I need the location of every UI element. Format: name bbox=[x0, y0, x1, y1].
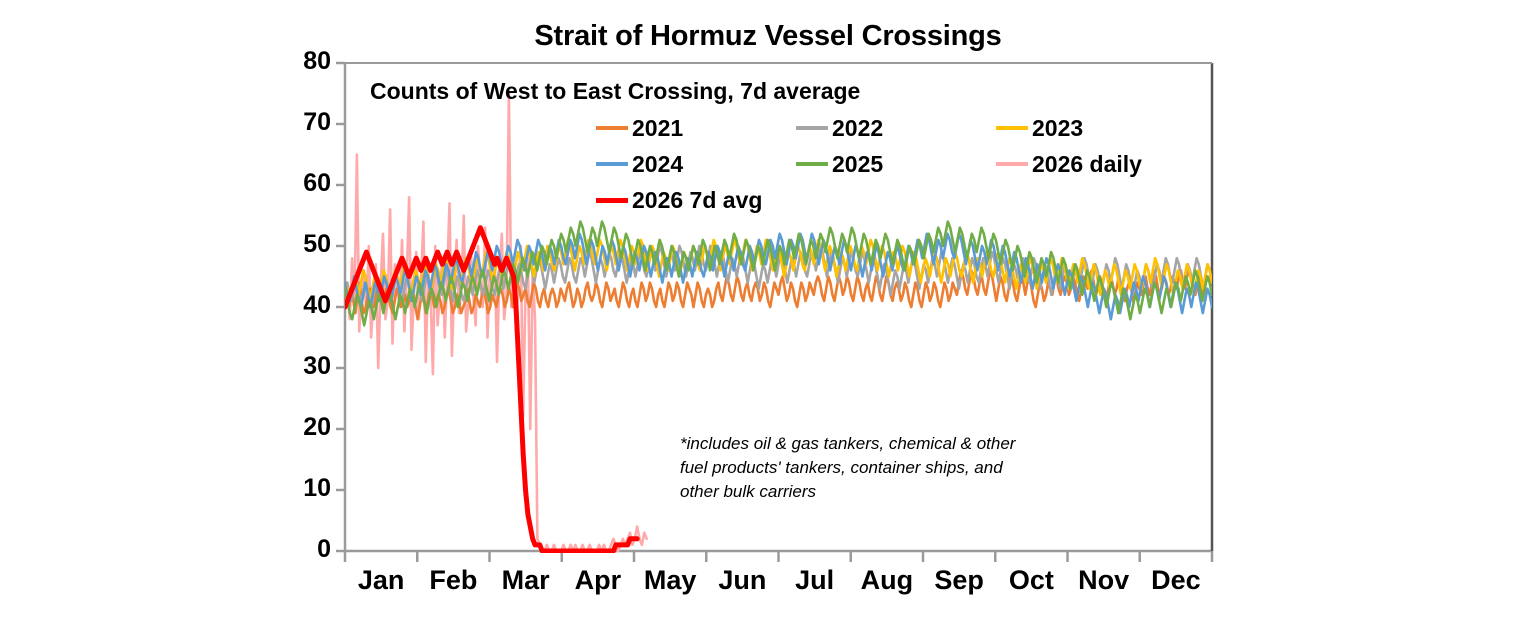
legend-item-2022[interactable]: 2022 bbox=[796, 115, 996, 142]
y-tick-label: 10 bbox=[285, 474, 331, 503]
legend-label: 2021 bbox=[632, 115, 683, 142]
chart-footnote: *includes oil & gas tankers, chemical & … bbox=[680, 432, 1015, 504]
y-tick-label: 40 bbox=[285, 291, 331, 320]
y-ticks bbox=[336, 63, 345, 551]
legend-swatch-icon bbox=[596, 126, 628, 130]
legend-item-2023[interactable]: 2023 bbox=[996, 115, 1196, 142]
y-tick-label: 60 bbox=[285, 169, 331, 198]
footnote-line: fuel products' tankers, container ships,… bbox=[680, 456, 1015, 480]
chart-legend: 202120222023202420252026 daily2026 7d av… bbox=[596, 110, 1196, 218]
legend-item-2025[interactable]: 2025 bbox=[796, 151, 996, 178]
y-tick-label: 30 bbox=[285, 352, 331, 381]
y-tick-label: 50 bbox=[285, 230, 331, 259]
legend-label: 2025 bbox=[832, 151, 883, 178]
x-ticks bbox=[345, 551, 1212, 562]
chart-subtitle: Counts of West to East Crossing, 7d aver… bbox=[370, 78, 860, 105]
legend-item-2026-daily[interactable]: 2026 daily bbox=[996, 151, 1196, 178]
legend-label: 2022 bbox=[832, 115, 883, 142]
y-tick-label: 0 bbox=[285, 535, 331, 564]
legend-row: 202120222023 bbox=[596, 110, 1196, 146]
legend-label: 2023 bbox=[1032, 115, 1083, 142]
y-tick-label: 70 bbox=[285, 108, 331, 137]
footnote-line: *includes oil & gas tankers, chemical & … bbox=[680, 432, 1015, 456]
y-tick-label: 80 bbox=[285, 47, 331, 76]
vessel-crossings-chart: Strait of Hormuz Vessel Crossings Counts… bbox=[0, 0, 1536, 630]
legend-item-2026-7d-avg[interactable]: 2026 7d avg bbox=[596, 187, 796, 214]
legend-swatch-icon bbox=[596, 198, 628, 203]
legend-row: 2026 7d avg bbox=[596, 182, 1196, 218]
y-tick-label: 20 bbox=[285, 413, 331, 442]
legend-swatch-icon bbox=[996, 162, 1028, 166]
legend-label: 2024 bbox=[632, 151, 683, 178]
legend-label: 2026 daily bbox=[1032, 151, 1142, 178]
legend-item-2024[interactable]: 2024 bbox=[596, 151, 796, 178]
legend-row: 202420252026 daily bbox=[596, 146, 1196, 182]
legend-swatch-icon bbox=[796, 162, 828, 166]
legend-swatch-icon bbox=[796, 126, 828, 130]
legend-item-2021[interactable]: 2021 bbox=[596, 115, 796, 142]
x-tick-label: Dec bbox=[1126, 565, 1226, 596]
footnote-line: other bulk carriers bbox=[680, 480, 1015, 504]
legend-swatch-icon bbox=[596, 162, 628, 166]
legend-swatch-icon bbox=[996, 126, 1028, 130]
legend-label: 2026 7d avg bbox=[632, 187, 762, 214]
chart-title: Strait of Hormuz Vessel Crossings bbox=[0, 20, 1536, 53]
